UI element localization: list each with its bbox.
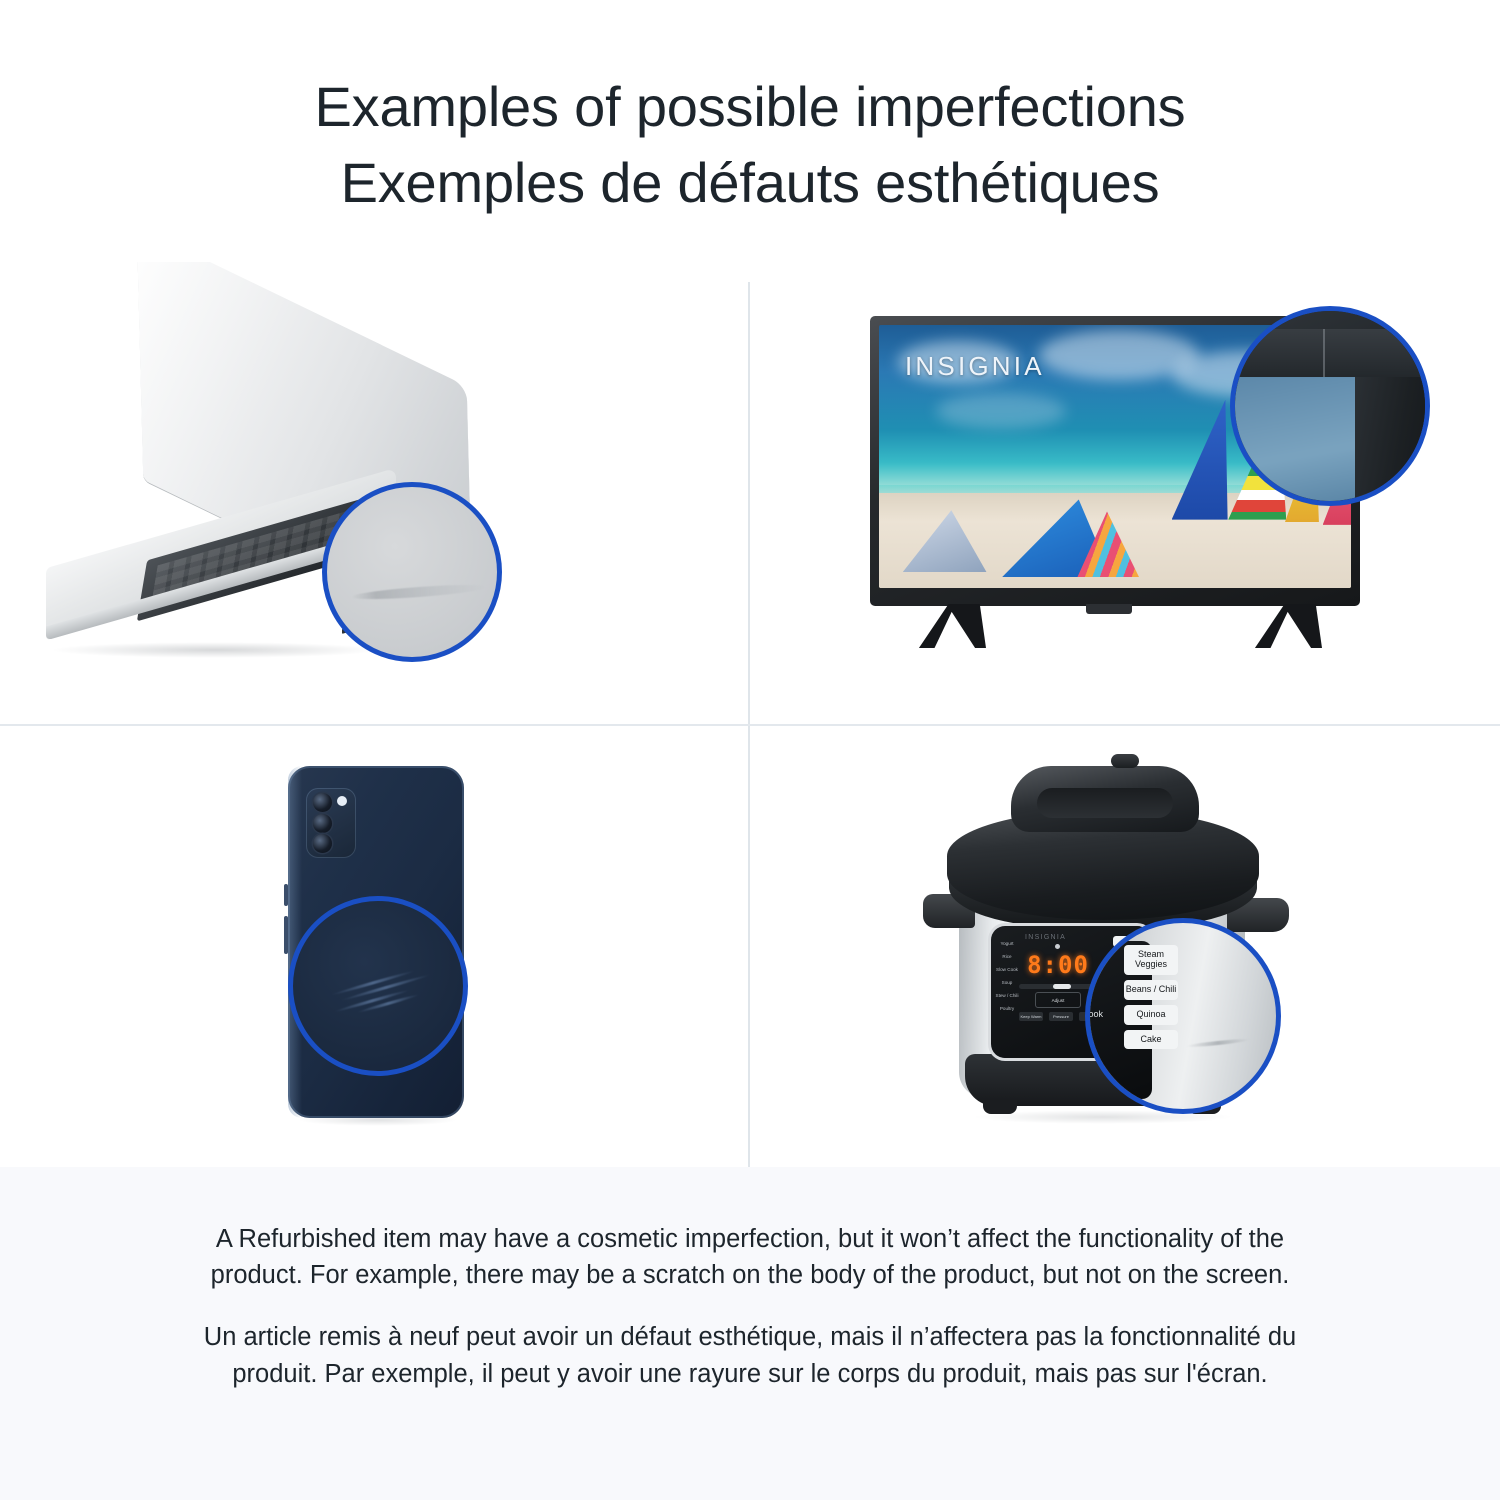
footer-disclaimer: A Refurbished item may have a cosmetic i… bbox=[0, 1167, 1500, 1500]
tv-stand-right bbox=[1244, 604, 1322, 648]
laptop-illustration bbox=[30, 290, 720, 700]
camera-module bbox=[306, 788, 356, 858]
cooker-mini-button[interactable]: Pressure bbox=[1049, 1012, 1073, 1021]
tv-brand-logo: INSIGNIA bbox=[905, 351, 1045, 382]
tv-stand-left bbox=[908, 604, 986, 648]
smartphone-volume-button bbox=[284, 884, 288, 906]
camera-lens-icon bbox=[313, 793, 332, 812]
magnifier-circle-television bbox=[1230, 306, 1430, 506]
scratch-mark-pressure-cooker bbox=[1186, 1038, 1250, 1049]
pressure-cooker-illustration: INSIGNIA 8:00 Adjust Yogurt Rice Slow Co… bbox=[925, 748, 1345, 1148]
cooker-button[interactable]: Rice bbox=[994, 951, 1020, 962]
adjust-button[interactable]: Adjust bbox=[1035, 992, 1081, 1008]
magnifier-cooker-label: Slow Cook bbox=[1085, 1009, 1103, 1019]
magnifier-circle-smartphone bbox=[288, 896, 468, 1076]
magnifier-circle-pressure-cooker: Delay Slow Cook Steam Veggies Beans / Ch… bbox=[1085, 918, 1281, 1114]
scratch-marks-smartphone bbox=[328, 961, 437, 1022]
control-panel-brand: INSIGNIA bbox=[1025, 934, 1066, 941]
camera-lens-icon bbox=[313, 834, 332, 853]
example-cell-smartphone bbox=[0, 726, 748, 1167]
smartphone-illustration bbox=[180, 746, 580, 1146]
magnifier-circle-laptop bbox=[322, 482, 502, 662]
cooker-mini-button[interactable]: Keep Warm bbox=[1019, 1012, 1043, 1021]
sailboat-blue bbox=[1172, 400, 1228, 520]
example-cell-pressure-cooker: INSIGNIA 8:00 Adjust Yogurt Rice Slow Co… bbox=[750, 726, 1500, 1167]
magnifier-cooker-button[interactable]: Quinoa bbox=[1124, 1005, 1178, 1025]
cooker-button[interactable]: Soup bbox=[994, 977, 1020, 988]
magnifier-tv-top-edge bbox=[1230, 329, 1430, 377]
steam-valve-icon bbox=[1111, 754, 1139, 768]
laptop-shadow bbox=[50, 642, 380, 658]
cooker-button[interactable]: Yogurt bbox=[994, 938, 1020, 949]
magnifier-cooker-button[interactable]: Cake bbox=[1124, 1030, 1178, 1050]
disclaimer-french: Un article remis à neuf peut avoir un dé… bbox=[183, 1319, 1318, 1391]
cooker-button[interactable]: Stew / Chili bbox=[994, 990, 1020, 1001]
tv-control-bump bbox=[1086, 604, 1132, 614]
page-title-french: Exemples de défauts esthétiques bbox=[341, 145, 1160, 221]
cooker-button[interactable]: Slow Cook bbox=[994, 964, 1020, 975]
camera-flash-icon bbox=[337, 796, 347, 806]
refurbished-imperfections-infographic: Examples of possible imperfections Exemp… bbox=[0, 0, 1500, 1500]
disclaimer-english: A Refurbished item may have a cosmetic i… bbox=[183, 1221, 1318, 1293]
camera-lens-icon bbox=[313, 814, 332, 833]
smartphone-power-button bbox=[284, 916, 288, 954]
magnifier-tv-seam-defect bbox=[1323, 329, 1325, 377]
examples-grid: INSIGNIA bbox=[0, 262, 1500, 1167]
scratch-mark-laptop bbox=[351, 582, 487, 602]
magnifier-tv-screen-blur bbox=[1230, 373, 1369, 506]
control-panel-left-buttons: Yogurt Rice Slow Cook Soup Stew / Chili … bbox=[994, 938, 1020, 1014]
example-cell-laptop bbox=[0, 262, 748, 724]
header: Examples of possible imperfections Exemp… bbox=[0, 0, 1500, 262]
magnifier-cooker-buttons: Steam Veggies Beans / Chili Quinoa Cake bbox=[1124, 945, 1178, 1049]
pressure-cooker-foot bbox=[983, 1100, 1017, 1114]
example-cell-television: INSIGNIA bbox=[750, 262, 1500, 724]
page-title-english: Examples of possible imperfections bbox=[315, 69, 1186, 145]
magnifier-cooker-button[interactable]: Beans / Chili bbox=[1124, 980, 1178, 1000]
status-indicator-led bbox=[1055, 944, 1060, 949]
cooker-display: 8:00 bbox=[1021, 952, 1095, 978]
cloud-shape bbox=[936, 393, 1066, 429]
television-illustration: INSIGNIA bbox=[860, 304, 1420, 676]
cooker-button[interactable]: Poultry bbox=[994, 1003, 1020, 1014]
pressure-cooker-lid-handle bbox=[1011, 766, 1199, 832]
magnifier-cooker-button[interactable]: Steam Veggies bbox=[1124, 945, 1178, 975]
